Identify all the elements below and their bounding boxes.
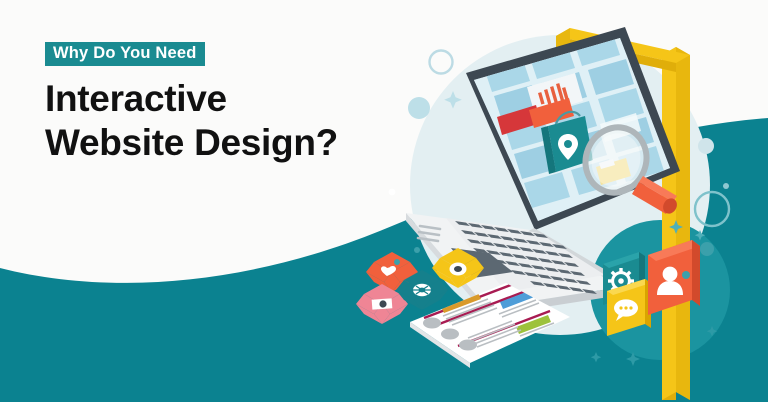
page-title: Interactive Website Design? bbox=[45, 77, 385, 164]
title-line-1: Interactive bbox=[45, 77, 385, 121]
title-line-2: Website Design? bbox=[45, 121, 385, 165]
headline-block: Why Do You Need Interactive Website Desi… bbox=[45, 42, 385, 165]
eyebrow-badge: Why Do You Need bbox=[45, 42, 205, 66]
banner-root: Why Do You Need Interactive Website Desi… bbox=[0, 0, 768, 402]
decor-circles bbox=[389, 138, 729, 279]
decor-sparkles bbox=[591, 220, 717, 366]
